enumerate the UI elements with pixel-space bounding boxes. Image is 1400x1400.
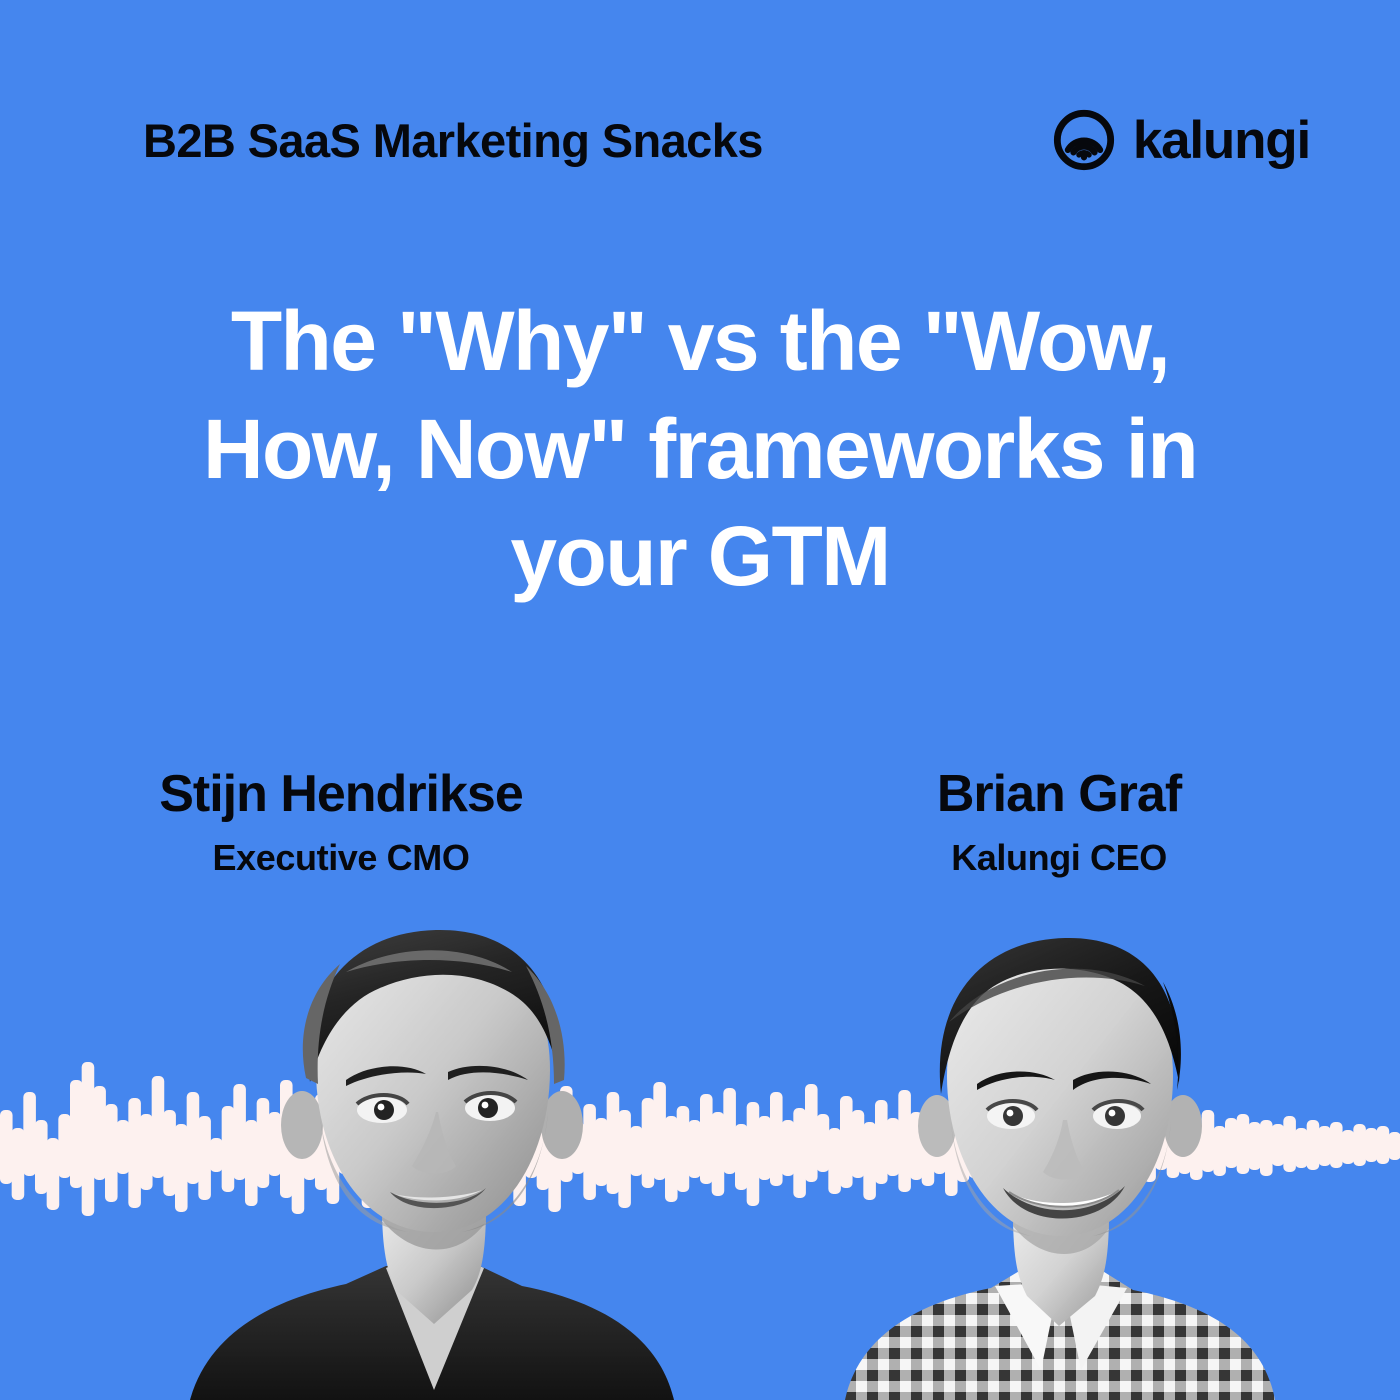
speaker-photo-brian-graf xyxy=(845,930,1275,1400)
speaker-list: Stijn Hendrikse Executive CMO Brian Graf… xyxy=(0,765,1400,878)
speaker-brian-graf: Brian Graf Kalungi CEO xyxy=(700,765,1400,878)
speaker-role: Kalungi CEO xyxy=(718,837,1400,878)
speaker-name: Brian Graf xyxy=(718,765,1400,825)
cover-header: B2B SaaS Marketing Snacks kalungi xyxy=(143,100,1310,180)
show-title: B2B SaaS Marketing Snacks xyxy=(143,117,763,164)
episode-title-line-3: your GTM xyxy=(140,503,1260,611)
episode-title: The "Why" vs the "Wow, How, Now" framewo… xyxy=(140,288,1260,611)
speaker-name: Stijn Hendrikse xyxy=(0,765,682,825)
podcast-cover: B2B SaaS Marketing Snacks kalungi The "W… xyxy=(0,0,1400,1400)
kalungi-signal-circle-icon xyxy=(1053,109,1115,171)
kalungi-wordmark: kalungi xyxy=(1133,114,1310,167)
episode-title-line-2: How, Now" frameworks in xyxy=(140,396,1260,504)
episode-title-line-1: The "Why" vs the "Wow, xyxy=(140,288,1260,396)
speaker-role: Executive CMO xyxy=(0,837,682,878)
speaker-stijn-hendrikse: Stijn Hendrikse Executive CMO xyxy=(0,765,700,878)
speaker-photo-stijn-hendrikse xyxy=(150,920,710,1400)
kalungi-brand-logo: kalungi xyxy=(1053,109,1310,171)
